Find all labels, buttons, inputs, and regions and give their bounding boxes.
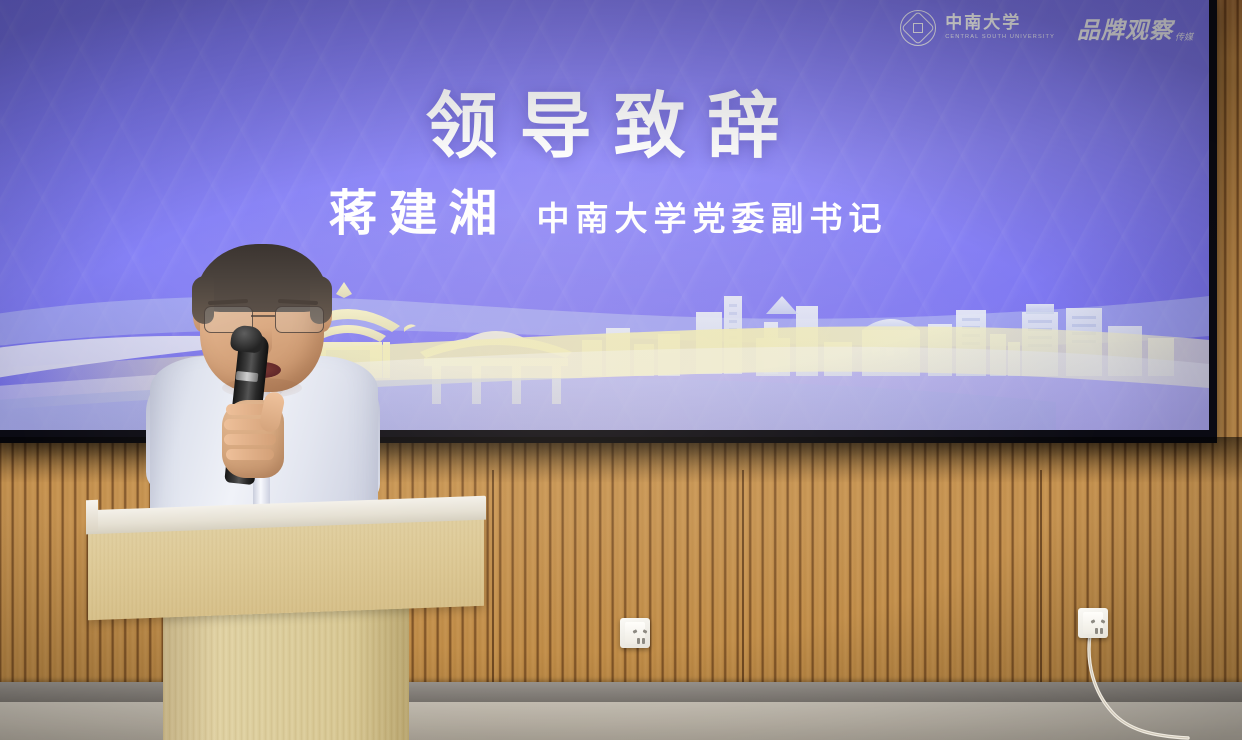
outlet-slot	[637, 638, 640, 644]
power-cable	[1060, 630, 1240, 740]
podium-left-edge	[86, 500, 98, 530]
eyeglass-lens-right	[275, 306, 324, 333]
university-name-cn: 中南大学	[945, 15, 1055, 32]
conference-hall-scene: 中南大学 CENTRAL SOUTH UNIVERSITY 品牌观察 传媒 领导…	[0, 0, 1242, 740]
outlet-slot	[1100, 628, 1103, 634]
brand-name-cn: 品牌观察	[1077, 11, 1173, 45]
csu-seal-icon	[900, 10, 936, 46]
outlet-slot	[642, 638, 645, 644]
wall-panel-seam	[492, 470, 494, 700]
speaker-finger	[224, 434, 276, 445]
outlet-slot	[633, 629, 638, 634]
outlet-face	[625, 622, 645, 644]
university-name-en: CENTRAL SOUTH UNIVERSITY	[945, 35, 1055, 41]
outlet-slot	[1091, 619, 1096, 624]
wall-power-outlet[interactable]	[620, 618, 650, 648]
slide-logo-bar: 中南大学 CENTRAL SOUTH UNIVERSITY 品牌观察 传媒	[900, 10, 1193, 46]
brand-suffix-cn: 传媒	[1175, 30, 1193, 45]
outlet-slot	[1101, 619, 1106, 624]
brand-logo: 品牌观察 传媒	[1077, 11, 1193, 45]
eyeglass-bridge	[251, 315, 275, 317]
university-logo-text: 中南大学 CENTRAL SOUTH UNIVERSITY	[945, 15, 1055, 41]
university-logo: 中南大学 CENTRAL SOUTH UNIVERSITY	[900, 10, 1055, 46]
speaker-finger	[226, 449, 274, 460]
outlet-face	[1083, 612, 1103, 634]
wall-power-outlet-with-cable[interactable]	[1078, 608, 1108, 638]
outlet-slot	[643, 629, 648, 634]
wall-panel-seam	[1040, 470, 1042, 700]
wall-panel-seam	[742, 470, 744, 700]
outlet-slot	[1095, 628, 1098, 634]
